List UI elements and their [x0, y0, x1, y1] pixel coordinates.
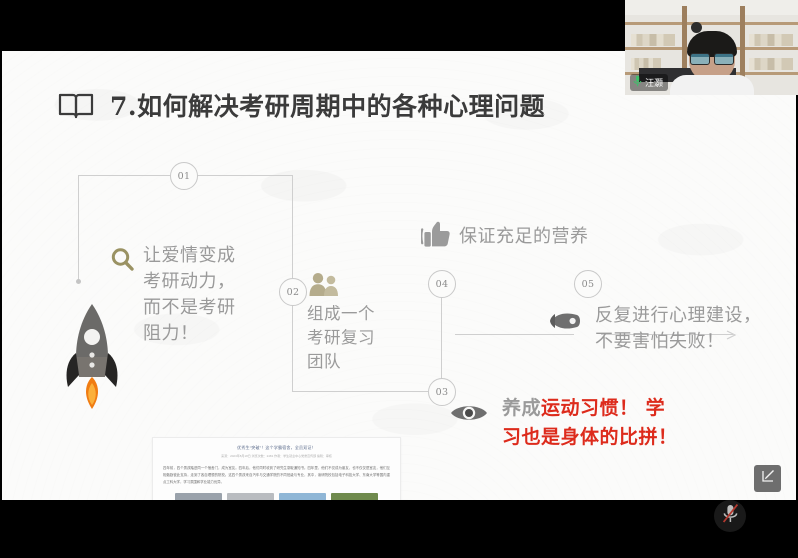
node-label: 03: [436, 387, 449, 398]
eye-icon: [450, 402, 488, 429]
card-headline: 优秀生“突破”！这个学霸宿舍，全员双证！: [153, 445, 400, 451]
item-04-line-1: 保证充足的营养: [459, 224, 589, 250]
timeline-item-01: 让爱情变成 考研动力， 而不是考研 阻力！: [110, 243, 236, 347]
item-02-line-3: 团队: [307, 350, 375, 374]
timeline-line-start-up: [78, 175, 79, 281]
participant-name-badge: 汪灏: [630, 74, 668, 91]
timeline-item-02: 组成一个 考研复习 团队: [307, 272, 375, 374]
timeline-line-02-down: [292, 304, 293, 391]
item-03-red-2: 习也是身体的比拼！: [502, 423, 678, 452]
book-row: [749, 34, 793, 46]
annotate-pen-icon: [760, 468, 776, 489]
embedded-article-card[interactable]: 优秀生“突破”！这个学霸宿舍，全员双证！ 来源：2023年8月18日 浏览次数：…: [152, 437, 401, 500]
timeline-node-02[interactable]: 02: [279, 278, 307, 306]
magnifier-icon: [110, 247, 135, 277]
node-label: 04: [436, 279, 449, 290]
book-row: [749, 58, 793, 70]
item-05-line-2: 不要害怕失败！: [595, 329, 762, 355]
presentation-slide: 7.如何解决考研周期中的各种心理问题 01: [2, 51, 796, 500]
timeline-node-05[interactable]: 05: [574, 270, 602, 298]
timeline-item-03: 养成运动习惯！ 学 习也是身体的比拼！: [450, 394, 678, 451]
item-02-line-1: 组成一个: [307, 302, 375, 326]
book-row: [631, 34, 675, 46]
annotate-button[interactable]: [754, 465, 781, 492]
meeting-screen-share: 7.如何解决考研周期中的各种心理问题 01: [0, 0, 798, 558]
node-label: 01: [178, 171, 191, 182]
item-01-line-1: 让爱情变成: [143, 243, 236, 269]
timeline-line-top-left: [78, 175, 170, 176]
item-01-line-2: 考研动力，: [143, 269, 236, 295]
card-meta: 来源：2023年8月18日 浏览次数：2481 作者：学生就业中心党委宣传部 编…: [153, 454, 400, 458]
participant-video: [670, 33, 754, 95]
card-photo: [279, 493, 326, 500]
timeline-line-bottom: [292, 391, 428, 392]
page-title: 7.如何解决考研周期中的各种心理问题: [110, 87, 545, 123]
mute-status-badge[interactable]: [714, 500, 746, 532]
node-label: 02: [287, 287, 300, 298]
thumbs-up-icon: [421, 221, 451, 253]
shelf-board: [625, 22, 798, 25]
timeline-start-dot: [76, 279, 81, 284]
glasses-icon: [690, 53, 734, 63]
participant-name: 汪灏: [645, 76, 663, 89]
timeline-item-04: 保证充足的营养: [421, 221, 589, 253]
card-photo-strip: [153, 493, 400, 500]
timeline-item-05: 反复进行心理建设， 不要害怕失败！: [547, 303, 762, 355]
slide-title-row: 7.如何解决考研周期中的各种心理问题: [58, 87, 545, 123]
node-label: 05: [582, 279, 595, 290]
timeline-line-top-right: [195, 175, 292, 176]
card-photo: [227, 493, 274, 500]
card-photo: [331, 493, 378, 500]
item-05-line-1: 反复进行心理建设，: [595, 303, 762, 329]
timeline-line-down-to-02: [292, 175, 293, 278]
microphone-icon: [633, 75, 642, 90]
card-body-text: 四年前，四个男孩踏进同一个宿舍门，成为室友。四年后，他们同时收到了研究生录取通知…: [163, 465, 390, 485]
webcam-tile[interactable]: 汪灏: [625, 0, 798, 95]
timeline-line-03-to-04: [441, 296, 442, 382]
item-03-red-1: 运动习惯！ 学: [541, 397, 665, 419]
two-people-icon: [307, 272, 375, 301]
item-02-line-2: 考研复习: [307, 326, 375, 350]
timeline-node-01[interactable]: 01: [170, 162, 198, 190]
item-03-line-1: 养成运动习惯！ 学: [502, 394, 678, 423]
card-photo: [175, 493, 222, 500]
item-03-gray-prefix: 养成: [502, 397, 541, 419]
timeline-node-04[interactable]: 04: [428, 270, 456, 298]
item-01-line-3: 而不是考研: [143, 295, 236, 321]
rocket-small-icon: [547, 310, 583, 337]
microphone-muted-icon: [721, 503, 740, 529]
torso: [670, 75, 754, 95]
open-book-icon: [58, 92, 94, 119]
item-01-line-4: 阻力！: [143, 321, 236, 347]
